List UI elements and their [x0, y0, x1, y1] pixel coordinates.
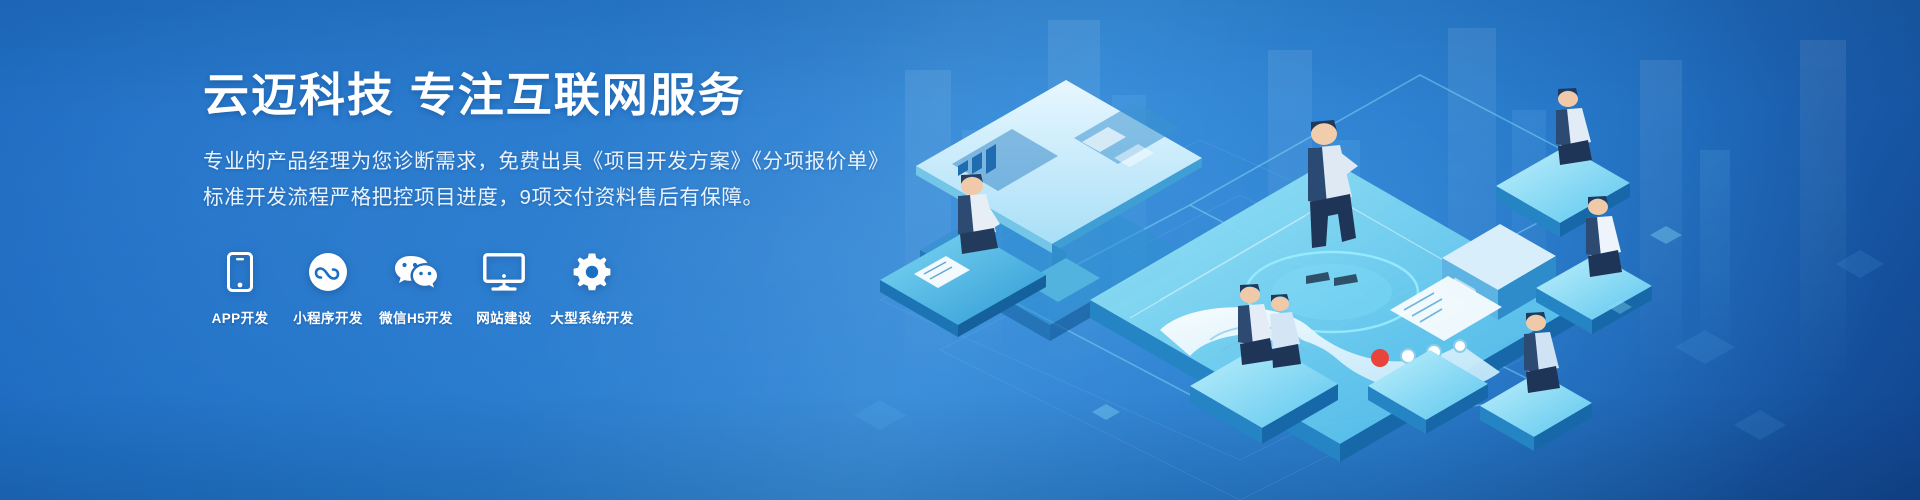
- service-item-website[interactable]: 网站建设: [467, 250, 541, 327]
- service-item-wechat[interactable]: 微信H5开发: [379, 250, 453, 327]
- service-label-system: 大型系统开发: [550, 307, 633, 327]
- mini-program-icon: [308, 250, 348, 294]
- hero-content: 云迈科技 专注互联网服务 专业的产品经理为您诊断需求，免费出具《项目开发方案》《…: [203, 68, 963, 327]
- wechat-icon: [393, 250, 439, 294]
- service-label-miniprogram: 小程序开发: [293, 307, 363, 327]
- service-item-app[interactable]: APP开发: [203, 250, 277, 327]
- isometric-illustration: [860, 0, 1920, 500]
- service-label-app: APP开发: [212, 307, 269, 327]
- page-title: 云迈科技 专注互联网服务: [203, 68, 963, 122]
- hero-banner: 云迈科技 专注互联网服务 专业的产品经理为您诊断需求，免费出具《项目开发方案》《…: [0, 0, 1920, 500]
- service-label-website: 网站建设: [476, 307, 532, 327]
- monitor-icon: [483, 250, 525, 294]
- service-label-wechat: 微信H5开发: [379, 307, 453, 327]
- service-list: APP开发 小程序开发: [203, 250, 963, 327]
- hero-subtitle: 专业的产品经理为您诊断需求，免费出具《项目开发方案》《分项报价单》 标准开发流程…: [203, 144, 963, 216]
- mobile-phone-icon: [227, 250, 253, 294]
- subtitle-line-1: 专业的产品经理为您诊断需求，免费出具《项目开发方案》《分项报价单》: [203, 144, 963, 180]
- service-item-miniprogram[interactable]: 小程序开发: [291, 250, 365, 327]
- service-item-system[interactable]: 大型系统开发: [555, 250, 629, 327]
- subtitle-line-2: 标准开发流程严格把控项目进度，9项交付资料售后有保障。: [203, 180, 963, 216]
- gear-icon: [572, 250, 612, 294]
